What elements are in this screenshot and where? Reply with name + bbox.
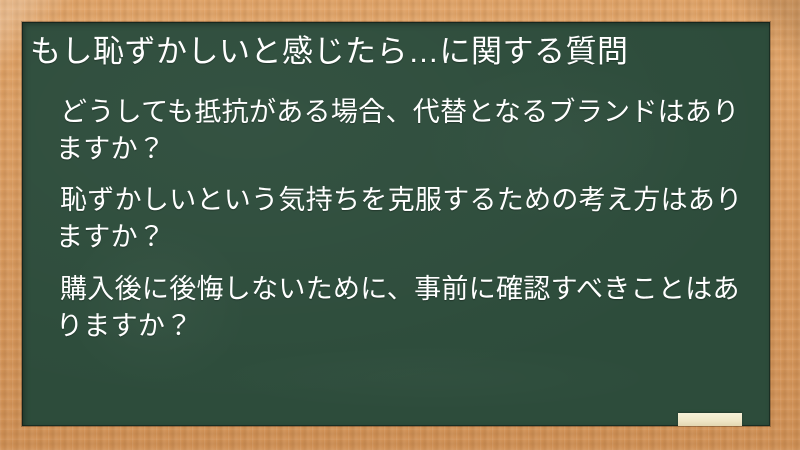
- slide-title: もし恥ずかしいと感じたら…に関する質問: [30, 30, 754, 72]
- question-list: どうしても抵抗がある場合、代替となるブランドはありますか？ 恥ずかしいという気持…: [30, 94, 754, 346]
- question-item: どうしても抵抗がある場合、代替となるブランドはありますか？: [30, 94, 754, 169]
- question-item: 恥ずかしいという気持ちを克服するための考え方はありますか？: [30, 182, 754, 257]
- chalkboard-surface: もし恥ずかしいと感じたら…に関する質問 どうしても抵抗がある場合、代替となるブラ…: [22, 22, 770, 426]
- board-content: もし恥ずかしいと感じたら…に関する質問 どうしても抵抗がある場合、代替となるブラ…: [22, 22, 770, 345]
- chalkboard-slide: もし恥ずかしいと感じたら…に関する質問 どうしても抵抗がある場合、代替となるブラ…: [0, 0, 800, 450]
- chalk-piece: [678, 413, 742, 426]
- question-item: 購入後に後悔しないために、事前に確認すべきことはありますか？: [30, 271, 754, 346]
